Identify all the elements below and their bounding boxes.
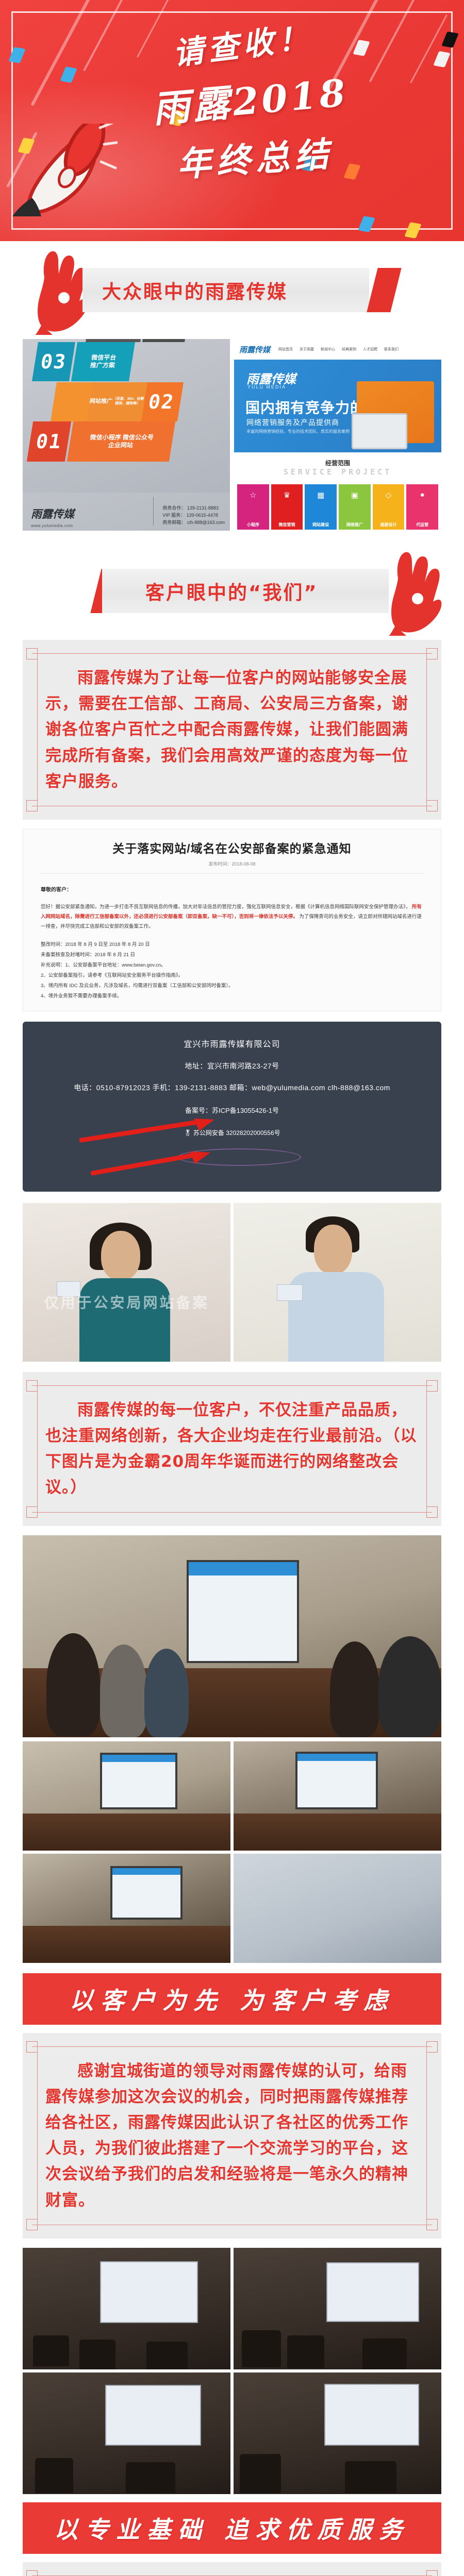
quote-frame: 感谢宜城街道的领导对雨露传媒的认可，给雨露传媒参加这次会议的机会，同时把雨露传媒… xyxy=(32,2046,432,2225)
site-section-cn: 经营范围 xyxy=(234,459,441,467)
notice-item: 整改时间：2018 年 8 月 9 日至 2018 年 8 月 20 日 xyxy=(41,940,423,950)
quote-block-qrcode: 雨露传媒为客户精心制作了微信公众号和小程序二维码，希望能够在工作上帮助到各位客户… xyxy=(23,2562,441,2576)
site-service-cards: ☆ 小程序 ♛ 微信营销 ▦ 网站建设 ▣ 网络推广 ◇ 画册设计 ● 代运营 xyxy=(237,484,438,530)
service-card[interactable]: ☆ 小程序 xyxy=(237,484,269,530)
notice-items: 整改时间：2018 年 8 月 9 日至 2018 年 8 月 20 日 未备案… xyxy=(41,940,423,1002)
red-arrow-icon xyxy=(79,1117,219,1143)
notice-item: 2、公安部备案指引，请参考《互联网站安全服务平台操作指南》。 xyxy=(41,971,423,981)
notice-title: 关于落实网站/域名在公安部备案的紧急通知 xyxy=(41,839,423,856)
poster-tile-01-label: 微信小程序 微信公众号企业网站 xyxy=(67,421,175,462)
company-icp: 备案号：苏ICP备13055426-1号 xyxy=(23,1105,441,1115)
site-hero-caption: 丰富的网络营销经验、专业的技术团队、真实的服务案例 xyxy=(246,429,350,434)
site-menu-item[interactable]: 网站首页 xyxy=(278,347,293,352)
meeting-photo xyxy=(23,1741,230,1851)
service-card-label: 网站建设 xyxy=(305,522,337,528)
site-menu-item[interactable]: 新闻中心 xyxy=(321,347,335,352)
notice-date: 发布时间：2018-08-08 xyxy=(41,860,423,867)
poster-tile-01: 01 xyxy=(27,421,71,462)
site-menu-item[interactable]: 联系我们 xyxy=(384,347,399,352)
section-header-public-view: 大众眼中的雨露传媒 xyxy=(0,241,464,339)
quote-block-innovation: 雨露传媒的每一位客户，不仅注重产品品质，也注重网络创新，各大企业均走在行业最前沿… xyxy=(23,1372,441,1526)
service-card-label: 微信营销 xyxy=(271,522,303,528)
leaf-icon: ● xyxy=(406,490,438,499)
banner-client-first: 以客户为先 为客户考虑 xyxy=(23,1973,441,2025)
notice-divider xyxy=(41,873,423,874)
section-title: 客户眼中的“我们” xyxy=(145,577,318,605)
id-verification-photos: 仅用于公安局网站备案 xyxy=(23,1203,441,1362)
poster-tile-04: 04 xyxy=(142,339,191,342)
hero-banner: 请查收！ 雨露2018 年终总结 xyxy=(0,0,464,241)
poster-chart-icon xyxy=(51,382,93,421)
portfolio-gallery: 01 微信小程序 微信公众号企业网站 02 网站推广（百度、360、谷歌搜狗、搜… xyxy=(23,339,441,531)
poster-brand: 雨露传媒 xyxy=(31,506,74,521)
quote-text: 雨露传媒为了让每一位客户的网站能够安全展示，需要在工信部、工商局、公安局三方备案… xyxy=(45,665,419,794)
site-menu-item[interactable]: 经典案例 xyxy=(342,347,356,352)
banner-text: 以专业基础 追求优质服务 xyxy=(54,2511,410,2545)
service-card[interactable]: ◇ 画册设计 xyxy=(373,484,405,530)
service-card-label: 画册设计 xyxy=(373,522,405,528)
fist-icon xyxy=(29,247,90,335)
notice-body: 您好！据公安部紧急通知，为进一步打击不良互联网信息的传播，加大对非法信息的管控力… xyxy=(41,902,423,931)
hall-photo xyxy=(23,2372,230,2494)
company-address: 地址：宜兴市南河路23-27号 xyxy=(23,1061,441,1071)
section-title: 大众眼中的雨露传媒 xyxy=(102,276,288,304)
fist-icon xyxy=(383,548,443,636)
section-ribbon: 大众眼中的雨露传媒 xyxy=(82,268,369,312)
ribbon-accent xyxy=(367,268,401,312)
poster-url: www.yulumedia.com xyxy=(31,523,73,528)
site-hero-headline: 国内拥有竞争力的 xyxy=(245,397,365,417)
office-photo xyxy=(234,1854,441,1963)
bank-icon: ▦ xyxy=(305,490,337,500)
projector-screen xyxy=(187,1560,299,1663)
trophy-icon: ☆ xyxy=(237,490,269,500)
quote-frame: 雨露传媒为了让每一位客户的网站能够安全展示，需要在工信部、工商局、公安局三方备案… xyxy=(32,653,432,806)
company-info-card: 宜兴市雨露传媒有限公司 地址：宜兴市南河路23-27号 电话：0510-8791… xyxy=(23,1022,441,1192)
section-ribbon: 客户眼中的“我们” xyxy=(102,569,389,613)
notice-item: 未备案核查及封堵时间：2018 年 8 月 21 日 xyxy=(41,950,423,960)
poster-tile-03: 03 xyxy=(32,342,75,381)
service-card[interactable]: ▣ 网络推广 xyxy=(339,484,371,530)
poster-tile-04-label: 画册设计企业认证 xyxy=(86,339,146,342)
site-menu: 网站首页 关于雨露 新闻中心 经典案例 人才招聘 联系我们 xyxy=(278,347,399,352)
meeting-photo-grid xyxy=(23,1741,441,1963)
meeting-photo xyxy=(23,1854,230,1963)
service-card-label: 小程序 xyxy=(237,522,269,528)
site-menu-item[interactable]: 关于雨露 xyxy=(300,347,314,352)
notice-body-pre: 您好！据公安部紧急通知，为进一步打击不良互联网信息的传播，加大对非法信息的管控力… xyxy=(41,904,410,910)
device-laptop-mock xyxy=(352,413,407,449)
service-card[interactable]: ▦ 网站建设 xyxy=(305,484,337,530)
site-section-en: SERVICE PROJECT xyxy=(234,467,441,477)
meeting-photo xyxy=(234,1741,441,1851)
company-website-screenshot: 雨露传媒 网站首页 关于雨露 新闻中心 经典案例 人才招聘 联系我们 雨露传媒 … xyxy=(234,339,441,531)
service-card[interactable]: ● 代运营 xyxy=(406,484,438,530)
hall-photo xyxy=(23,2248,230,2369)
site-section-heading: 经营范围 SERVICE PROJECT xyxy=(234,459,441,477)
megaphone-icon xyxy=(9,124,118,216)
tag-icon: ◇ xyxy=(373,490,405,500)
meeting-photo-main xyxy=(23,1535,441,1737)
photo-watermark: 仅用于公安局网站备案 xyxy=(23,1292,230,1312)
red-arrow-icon xyxy=(91,1147,220,1176)
site-hero-brand-en: YULU MEDIA xyxy=(247,384,286,389)
staff-id-photo-right xyxy=(234,1203,441,1362)
company-contact: 电话：0510-87912023 手机：139-2131-8883 邮箱：web… xyxy=(23,1082,441,1093)
quote-text: 感谢宜城街道的领导对雨露传媒的认可，给雨露传媒参加这次会议的机会，同时把雨露传媒… xyxy=(45,2058,419,2213)
site-hero-subhead: 网络营销服务及产品提供商 xyxy=(246,417,339,428)
notice-item: 4、境外业务暂不需要办理备案手续。 xyxy=(41,991,423,1002)
hall-photo xyxy=(234,2372,441,2494)
quote-block-meeting: 感谢宜城街道的领导对雨露传媒的认可，给雨露传媒参加这次会议的机会，同时把雨露传媒… xyxy=(23,2033,441,2239)
notice-greeting: 尊敬的客户： xyxy=(41,885,423,893)
service-card-label: 代运营 xyxy=(406,522,438,528)
poster-divider xyxy=(153,497,154,526)
quote-text: 雨露传媒的每一位客户，不仅注重产品品质，也注重网络创新，各大企业均走在行业最前沿… xyxy=(45,1397,419,1501)
site-navbar: 雨露传媒 网站首页 关于雨露 新闻中心 经典案例 人才招聘 联系我们 xyxy=(234,339,441,360)
poster-tile-02-label: 网站推广（百度、360、谷歌搜狗、搜狗等） xyxy=(86,382,147,421)
crown-icon: ♛ xyxy=(271,490,303,500)
notice-item: 补充说明：1、公安部备案平台地址：www.beian.gov.cn。 xyxy=(41,960,423,971)
page-icon: ▣ xyxy=(339,490,371,500)
service-poster-image: 01 微信小程序 微信公众号企业网站 02 网站推广（百度、360、谷歌搜狗、搜… xyxy=(23,339,230,531)
hall-photo xyxy=(234,2248,441,2369)
conference-hall-photos xyxy=(23,2248,441,2494)
quote-block-filing: 雨露传媒为了让每一位客户的网站能够安全展示，需要在工信部、工商局、公安局三方备案… xyxy=(23,640,441,820)
poster-tile-03-label: 微信平台推广方案 xyxy=(71,342,135,381)
site-menu-item[interactable]: 人才招聘 xyxy=(363,347,377,352)
notice-item: 3、境内所有 IDC 及云业务，凡涉及域名，均需进行双备案（工信部和公安部同时备… xyxy=(41,981,423,991)
service-card-label: 网络推广 xyxy=(339,522,371,528)
banner-text: 以客户为先 为客户考虑 xyxy=(70,1982,394,2016)
poster-contacts: 商务合作： 139-2131-8883 VIP 服务： 139-0615-447… xyxy=(162,505,225,527)
service-card[interactable]: ♛ 微信营销 xyxy=(271,484,303,530)
site-logo: 雨露传媒 xyxy=(239,344,270,355)
section-header-client-view: 客户眼中的“我们” xyxy=(0,542,464,640)
police-filing-notice-document: 关于落实网站/域名在公安部备案的紧急通知 发布时间：2018-08-08 尊敬的… xyxy=(23,829,441,1011)
site-hero-banner: 雨露传媒 YULU MEDIA 国内拥有竞争力的 网络营销服务及产品提供商 丰富… xyxy=(234,360,441,452)
staff-id-photo-left: 仅用于公安局网站备案 xyxy=(23,1203,230,1362)
quote-frame: 雨露传媒的每一位客户，不仅注重产品品质，也注重网络创新，各大企业均走在行业最前沿… xyxy=(32,1385,432,1513)
banner-pro-service: 以专业基础 追求优质服务 xyxy=(23,2502,441,2554)
company-name: 宜兴市雨露传媒有限公司 xyxy=(23,1037,441,1049)
